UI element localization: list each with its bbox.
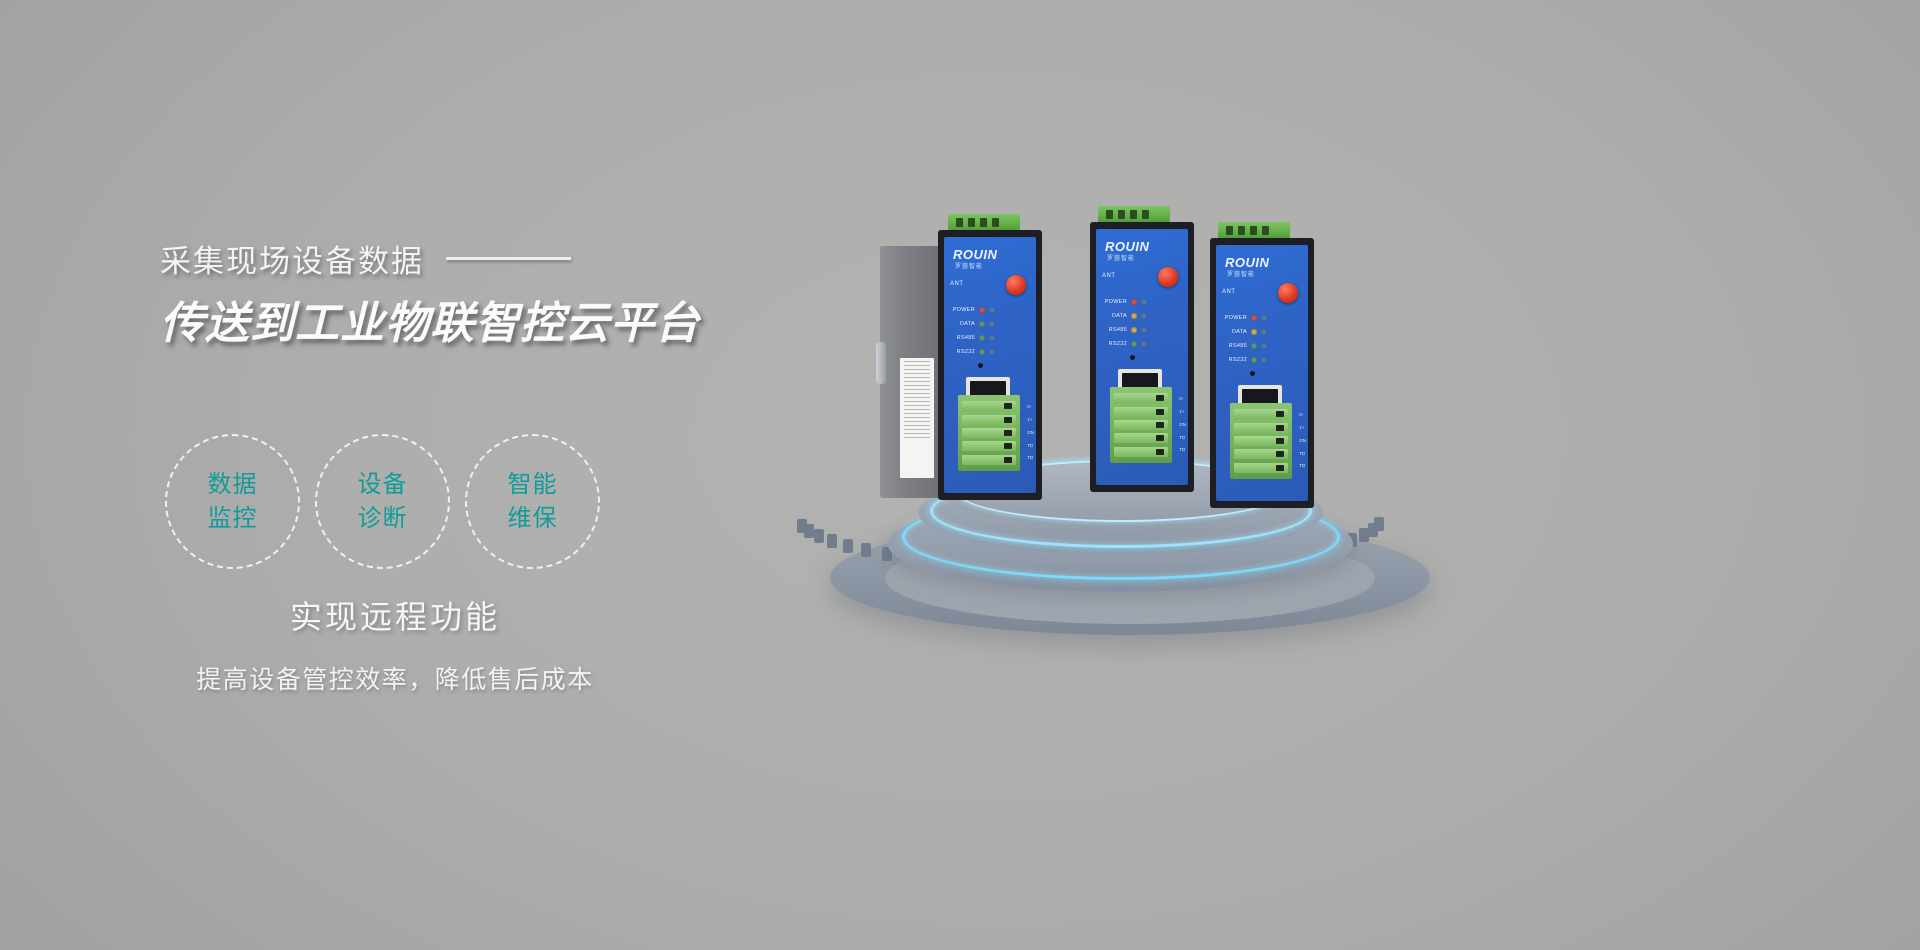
led-rs232-2-icon	[989, 349, 995, 355]
led-data-2-icon	[1261, 329, 1267, 335]
platform-tooth	[843, 539, 853, 553]
antenna-label: ANT	[950, 281, 964, 287]
led-data-2-icon	[989, 321, 995, 327]
led-row-rs232: RS232	[1101, 337, 1188, 351]
led-row-power: POWER	[1101, 295, 1188, 309]
led-power-icon	[1251, 315, 1257, 321]
badge-label-line1: 智能	[508, 468, 558, 501]
led-row-data: DATA	[949, 317, 1036, 331]
led-power-2-icon	[1261, 315, 1267, 321]
badge-device-diagnosis[interactable]: 设备 诊断	[315, 434, 450, 569]
led-rs485-icon	[979, 335, 985, 341]
antenna-label: ANT	[1102, 273, 1116, 279]
led-rs485-icon	[1251, 343, 1257, 349]
terminal-label-group: 0- 1+ GN TD TD	[1299, 405, 1306, 477]
platform-tooth	[797, 519, 807, 533]
antenna-connector-icon	[1278, 283, 1298, 303]
led-rs232-2-icon	[1141, 341, 1147, 347]
device-side-panel	[880, 246, 942, 498]
led-rs232-icon	[1131, 341, 1137, 347]
spec-label	[900, 358, 934, 478]
terminal-block-bottom-icon	[958, 395, 1020, 471]
badge-smart-maintenance[interactable]: 智能 维保	[465, 434, 600, 569]
led-data-icon	[979, 321, 985, 327]
headline-title: 传送到工业物联智控云平台	[160, 287, 800, 351]
brand-logo-cn: 罗茵智能	[955, 261, 983, 270]
reset-button[interactable]	[978, 363, 983, 368]
led-rs232-icon	[979, 349, 985, 355]
led-row-rs485: RS485	[1221, 339, 1308, 353]
terminal-label-group: 0- 1+ GN TD TD	[1179, 389, 1186, 461]
badge-data-monitoring[interactable]: 数据 监控	[165, 434, 300, 569]
led-row-rs232: RS232	[949, 345, 1036, 359]
badge-label-line2: 维保	[508, 502, 558, 535]
led-rs485-icon	[1131, 327, 1137, 333]
led-indicator-group: POWER DATA RS485 RS232	[949, 303, 1036, 359]
led-power-icon	[979, 307, 985, 313]
antenna-connector-icon	[1158, 267, 1178, 287]
feature-badge-group: 数据 监控 设备 诊断 智能 维保	[165, 434, 600, 569]
product-scene: ROUIN 罗茵智能 ANT POWER DATA RS485 RS232 0-	[790, 200, 1490, 650]
led-rs232-icon	[1251, 357, 1257, 363]
tagline-heading: 实现远程功能	[160, 592, 630, 638]
device-chassis: ROUIN 罗茵智能 ANT POWER DATA RS485 RS232 0-	[938, 230, 1042, 500]
platform-tooth	[814, 529, 824, 543]
badge-label-line1: 设备	[358, 468, 408, 501]
led-rs232-2-icon	[1261, 357, 1267, 363]
platform-tooth	[1368, 523, 1378, 537]
terminal-block-bottom-icon	[1230, 403, 1292, 479]
badge-label-line2: 监控	[208, 502, 258, 535]
led-indicator-group: POWER DATA RS485 RS232	[1221, 311, 1308, 367]
hero-banner: 采集现场设备数据 传送到工业物联智控云平台 数据 监控 设备 诊断 智能 维保 …	[0, 0, 1920, 950]
led-row-rs485: RS485	[949, 331, 1036, 345]
headline-row: 采集现场设备数据	[160, 236, 800, 281]
copy-block: 采集现场设备数据 传送到工业物联智控云平台	[160, 236, 800, 351]
led-row-rs232: RS232	[1221, 353, 1308, 367]
led-data-icon	[1131, 313, 1137, 319]
reset-button[interactable]	[1250, 371, 1255, 376]
platform-tooth	[861, 543, 871, 557]
terminal-block-bottom-icon	[1110, 387, 1172, 463]
device-front-panel: ROUIN 罗茵智能 ANT POWER DATA RS485 RS232 0-	[1216, 245, 1308, 501]
led-power-2-icon	[989, 307, 995, 313]
tagline-block: 实现远程功能 提高设备管控效率，降低售后成本	[160, 592, 630, 696]
tagline-subtext: 提高设备管控效率，降低售后成本	[160, 660, 630, 696]
led-power-icon	[1131, 299, 1137, 305]
reset-button[interactable]	[1130, 355, 1135, 360]
led-indicator-group: POWER DATA RS485 RS232	[1101, 295, 1188, 351]
antenna-connector-icon	[1006, 275, 1026, 295]
brand-logo-cn: 罗茵智能	[1227, 269, 1255, 278]
led-data-icon	[1251, 329, 1257, 335]
headline-subtitle: 采集现场设备数据	[160, 236, 424, 281]
led-power-2-icon	[1141, 299, 1147, 305]
antenna-label: ANT	[1222, 289, 1236, 295]
badge-label-line1: 数据	[208, 468, 258, 501]
led-row-power: POWER	[949, 303, 1036, 317]
led-rs485-2-icon	[1261, 343, 1267, 349]
platform-tooth	[827, 534, 837, 548]
device-chassis: ROUIN 罗茵智能 ANT POWER DATA RS485 RS232 0-	[1090, 222, 1194, 492]
led-rs485-2-icon	[989, 335, 995, 341]
platform-tooth	[1359, 528, 1369, 542]
din-rail-clip-icon	[876, 342, 886, 384]
badge-label-line2: 诊断	[358, 502, 408, 535]
device-front-panel: ROUIN 罗茵智能 ANT POWER DATA RS485 RS232 0-	[1096, 229, 1188, 485]
led-data-2-icon	[1141, 313, 1147, 319]
brand-logo: ROUIN	[1105, 239, 1149, 254]
led-row-rs485: RS485	[1101, 323, 1188, 337]
led-row-data: DATA	[1221, 325, 1308, 339]
terminal-label-group: 0- 1+ GN TD TD	[1027, 397, 1034, 469]
device-chassis: ROUIN 罗茵智能 ANT POWER DATA RS485 RS232 0-	[1210, 238, 1314, 508]
led-row-power: POWER	[1221, 311, 1308, 325]
brand-logo-cn: 罗茵智能	[1107, 253, 1135, 262]
led-rs485-2-icon	[1141, 327, 1147, 333]
brand-logo: ROUIN	[953, 247, 997, 262]
led-row-data: DATA	[1101, 309, 1188, 323]
device-front-panel: ROUIN 罗茵智能 ANT POWER DATA RS485 RS232 0-	[944, 237, 1036, 493]
brand-logo: ROUIN	[1225, 255, 1269, 270]
horizontal-rule-icon	[446, 257, 571, 260]
